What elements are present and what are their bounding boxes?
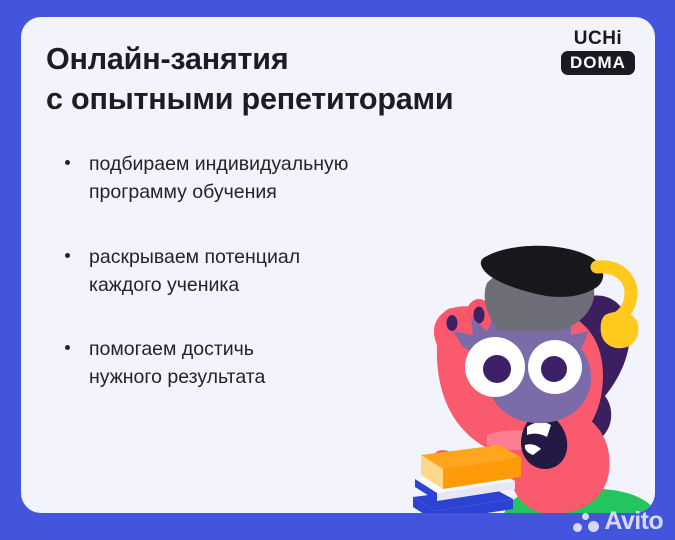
content-card: UCHi DOMA Онлайн-занятия с опытными репе… (21, 17, 655, 513)
list-item-line-2: программу обучения (89, 178, 459, 206)
avito-wordmark: Avito (604, 509, 663, 534)
bullet-dot-icon (65, 253, 70, 258)
bullet-dot-icon (65, 160, 70, 165)
logo-wordmark-top: UCHi (559, 29, 637, 48)
logo-wordmark-pill: DOMA (561, 51, 635, 75)
bullet-dot-icon (65, 345, 70, 350)
promo-banner: UCHi DOMA Онлайн-занятия с опытными репе… (0, 0, 675, 540)
list-item: подбираем индивидуальную программу обуче… (59, 150, 459, 207)
page-title: Онлайн-занятия с опытными репетиторами (46, 39, 516, 120)
dino-pupil-right (541, 356, 567, 382)
uchi-doma-logo: UCHi DOMA (559, 29, 637, 75)
dino-pupil-left (483, 355, 511, 383)
page-title-line-2: с опытными репетиторами (46, 79, 516, 119)
dino-nostril-left (447, 315, 458, 331)
avito-dots-icon (573, 511, 599, 533)
avito-watermark: Avito (573, 509, 663, 534)
page-title-line-1: Онлайн-занятия (46, 39, 516, 79)
dinosaur-tutor-illustration (391, 239, 655, 513)
tassel-knot (601, 312, 639, 349)
list-item-line-1: подбираем индивидуальную (89, 150, 459, 178)
